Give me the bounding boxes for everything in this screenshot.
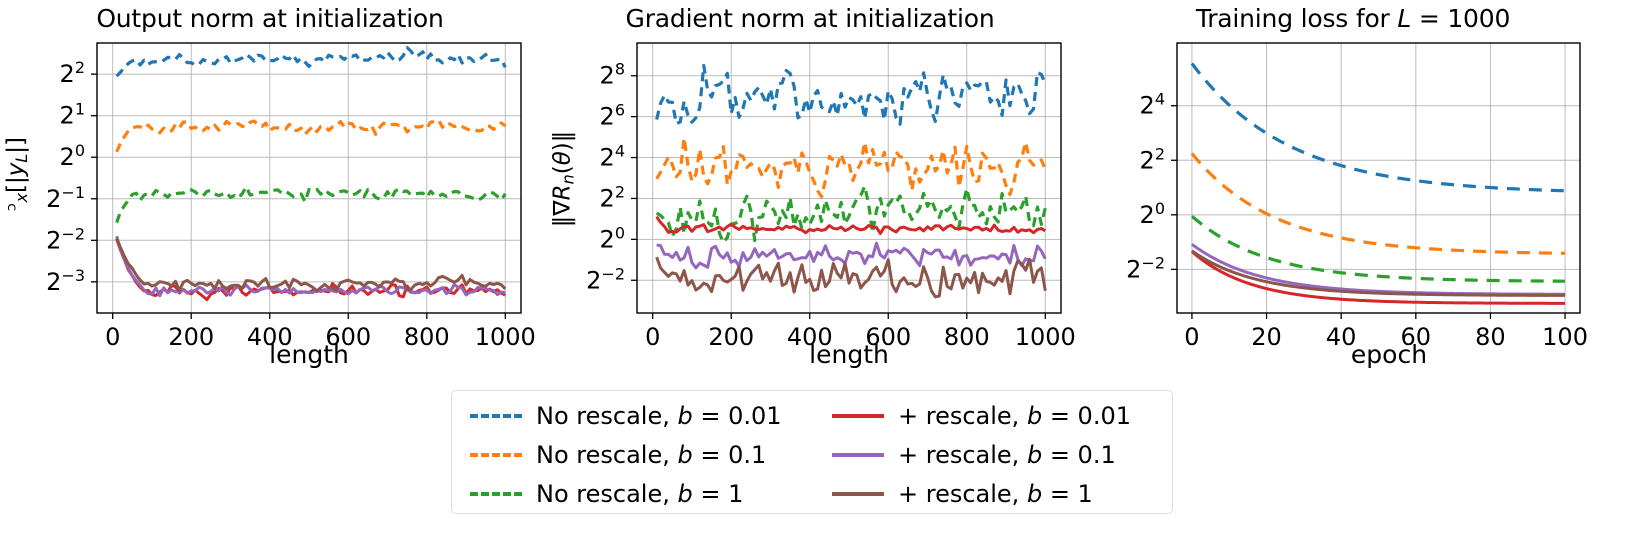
legend-item-rescale-b-1[interactable]: + rescale, b = 1	[832, 475, 1093, 513]
legend-box: No rescale, b = 0.01No rescale, b = 0.1N…	[451, 390, 1173, 514]
panel-training-loss: Training loss for L = 1000 0204060801002…	[1080, 0, 1626, 400]
x-axis-label-training-loss: epoch	[1177, 340, 1601, 369]
legend-item-no-rescale-b-0.1[interactable]: No rescale, b = 0.1	[470, 436, 766, 474]
legend-swatch-rescale-b-0.1	[832, 453, 884, 457]
svg-text:2−3: 2−3	[46, 266, 85, 296]
legend-item-no-rescale-b-0.01[interactable]: No rescale, b = 0.01	[470, 397, 782, 435]
legend-item-rescale-b-0.1[interactable]: + rescale, b = 0.1	[832, 436, 1116, 474]
svg-text:22: 22	[600, 182, 625, 212]
svg-text:21: 21	[60, 100, 85, 130]
plot-area-output-norm: 020040060080010002221202−12−22−3	[0, 0, 540, 330]
legend-item-no-rescale-b-1[interactable]: No rescale, b = 1	[470, 475, 743, 513]
legend-label-rescale-b-0.01: + rescale, b = 0.01	[898, 402, 1131, 430]
plot-area-training-loss: 0204060801002422202−2	[1080, 0, 1626, 330]
legend-swatch-no-rescale-b-0.01	[470, 414, 522, 418]
svg-text:2−2: 2−2	[46, 224, 85, 254]
svg-text:2−2: 2−2	[1126, 253, 1165, 283]
figure-canvas: Output norm at initialization ᵓx[|yL|] 0…	[0, 0, 1626, 547]
svg-text:28: 28	[600, 60, 625, 90]
x-axis-label-gradient-norm: length	[637, 340, 1061, 369]
legend-swatch-rescale-b-1	[832, 492, 884, 496]
panel-output-norm: Output norm at initialization ᵓx[|yL|] 0…	[0, 0, 540, 400]
legend-label-no-rescale-b-1: No rescale, b = 1	[536, 480, 743, 508]
legend-label-no-rescale-b-0.01: No rescale, b = 0.01	[536, 402, 782, 430]
legend-swatch-no-rescale-b-0.1	[470, 453, 522, 457]
svg-text:22: 22	[60, 58, 85, 88]
svg-text:20: 20	[1140, 199, 1165, 229]
svg-text:20: 20	[60, 141, 85, 171]
svg-text:2−1: 2−1	[46, 183, 85, 213]
svg-text:24: 24	[1140, 90, 1165, 120]
legend-swatch-no-rescale-b-1	[470, 492, 522, 496]
plot-area-gradient-norm: 0200400600800100028262422202−2	[540, 0, 1080, 330]
svg-text:22: 22	[1140, 144, 1165, 174]
x-axis-label-output-norm: length	[97, 340, 521, 369]
svg-text:24: 24	[600, 142, 625, 172]
svg-text:2−2: 2−2	[586, 264, 625, 294]
legend-label-no-rescale-b-0.1: No rescale, b = 0.1	[536, 441, 766, 469]
panel-gradient-norm: Gradient norm at initialization ‖∇Rn(θ)‖…	[540, 0, 1080, 400]
svg-text:20: 20	[600, 223, 625, 253]
legend-label-rescale-b-1: + rescale, b = 1	[898, 480, 1093, 508]
svg-text:26: 26	[600, 101, 625, 131]
legend-swatch-rescale-b-0.01	[832, 414, 884, 418]
legend-item-rescale-b-0.01[interactable]: + rescale, b = 0.01	[832, 397, 1131, 435]
legend-label-rescale-b-0.1: + rescale, b = 0.1	[898, 441, 1116, 469]
